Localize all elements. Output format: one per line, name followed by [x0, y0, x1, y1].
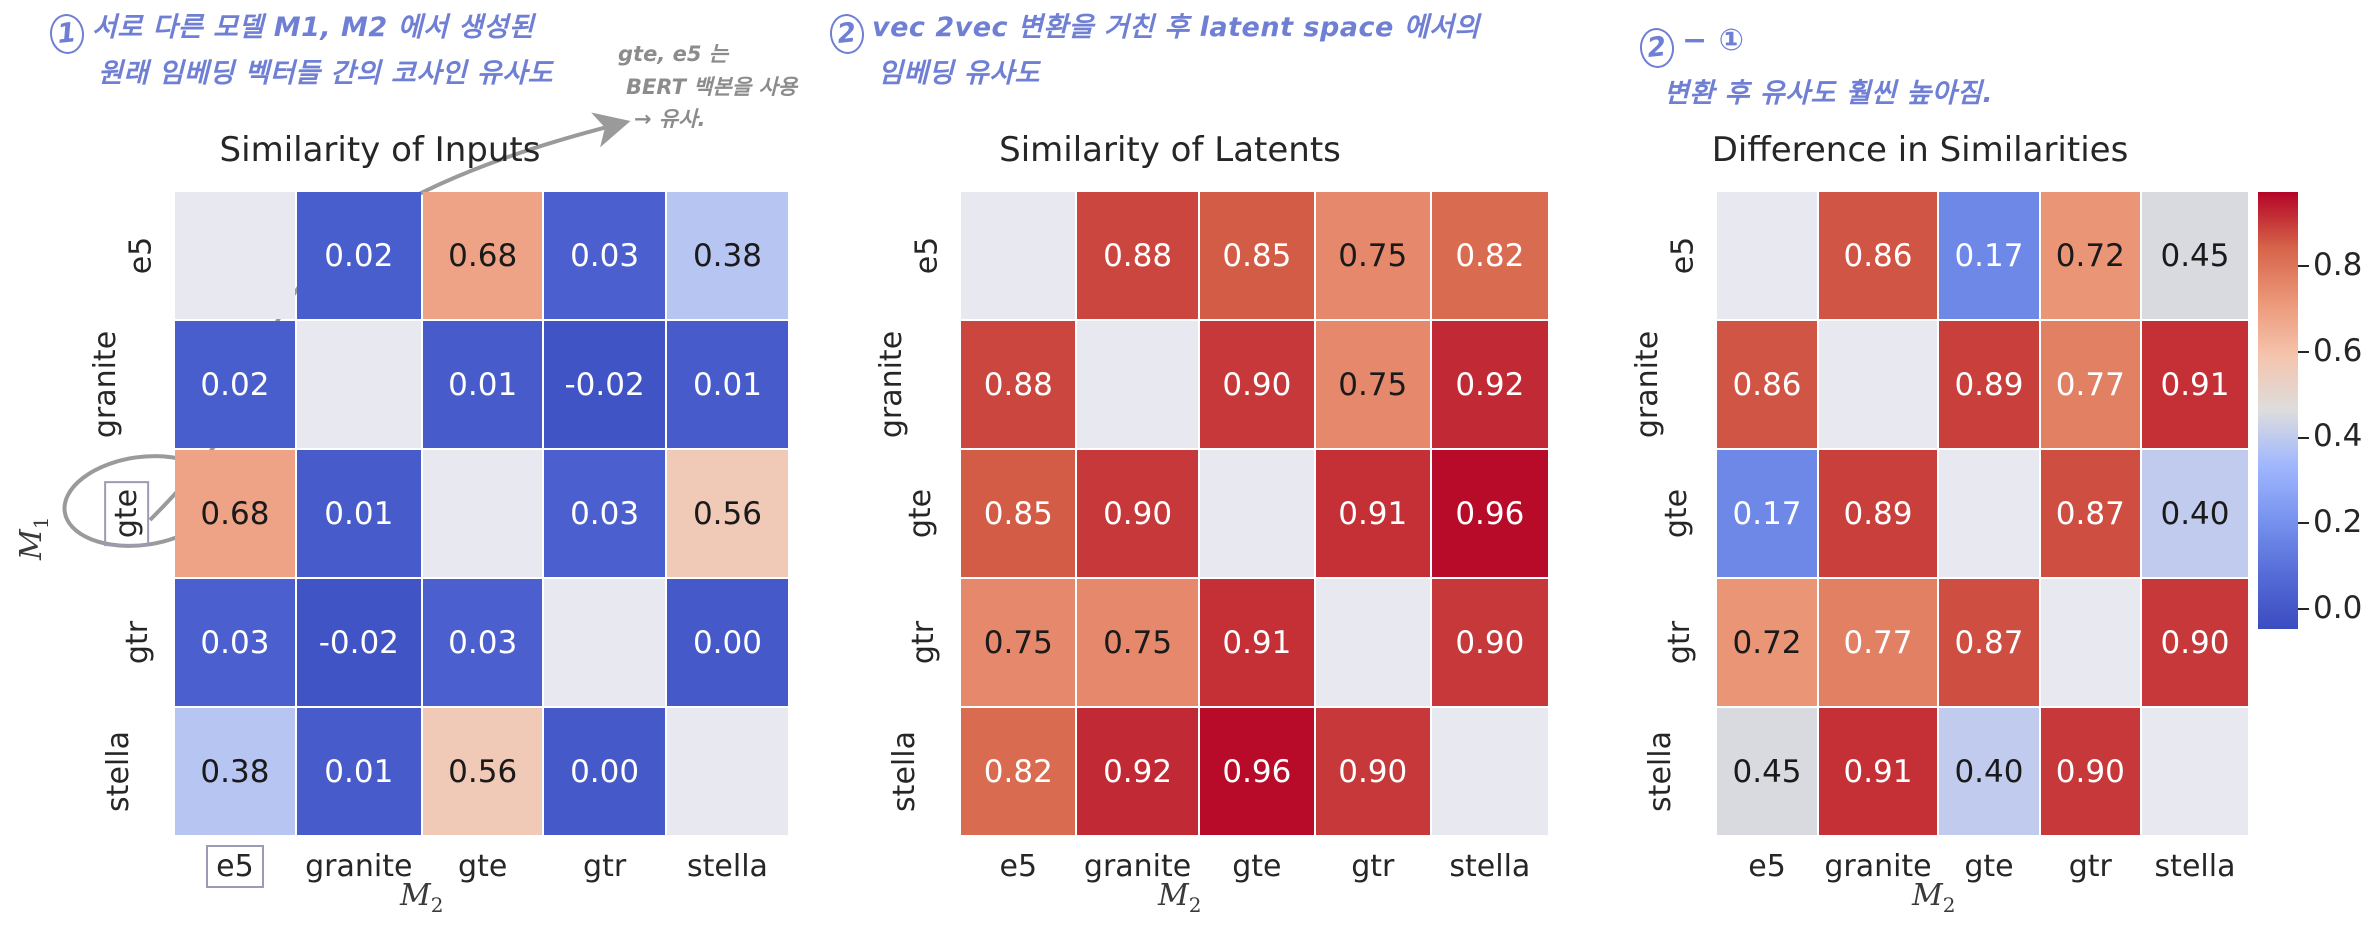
heatmap-cell: 0.38 — [175, 708, 294, 835]
heatmap-cell: 0.68 — [423, 192, 542, 319]
heatmap-cell: 0.40 — [2142, 450, 2248, 577]
heatmap-cell: 0.96 — [1200, 708, 1314, 835]
y-tick-label-granite: granite — [52, 321, 173, 448]
heatmap-cell: 0.92 — [1077, 708, 1198, 835]
heatmap-panel-difference: Difference in Similarities e50.860.170.7… — [1550, 0, 2250, 927]
panel-2-grid: e50.880.850.750.82granite0.880.900.750.9… — [836, 190, 1550, 887]
x-tick-label-e5: e5 — [961, 837, 1075, 885]
x-tick-label-gtr: gtr — [544, 837, 665, 885]
heatmap-cell: 0.01 — [297, 708, 422, 835]
panel-3-x-axis-label: M2 — [1912, 878, 1955, 917]
heatmap-cell: 0.86 — [1717, 321, 1816, 448]
heatmap-cell: 0.91 — [1819, 708, 1938, 835]
heatmap-cell: 0.75 — [1316, 321, 1430, 448]
heatmap-cell: 0.56 — [423, 708, 542, 835]
x-tick-label-gtr: gtr — [2041, 837, 2140, 885]
figure-root: 1서로 다른 모델 M1, M2 에서 생성된 원래 임베딩 벡터들 간의 코사… — [0, 0, 2373, 927]
colorbar-tick-label: 0.6 — [2298, 333, 2362, 369]
heatmap-cell — [961, 192, 1075, 319]
heatmap-cell: 0.88 — [961, 321, 1075, 448]
heatmap-cell: 0.00 — [544, 708, 665, 835]
y-tick-label-gte: gte — [52, 450, 173, 577]
heatmap-cell: 0.03 — [544, 192, 665, 319]
heatmap-cell: 0.01 — [423, 321, 542, 448]
y-tick-label-e5: e5 — [1594, 192, 1715, 319]
colorbar-tick-mark — [2298, 351, 2309, 353]
heatmap-cell: 0.91 — [1200, 579, 1314, 706]
y-tick-label-gtr: gtr — [52, 579, 173, 706]
heatmap-cell: 0.82 — [1432, 192, 1548, 319]
heatmap-cell: 0.38 — [667, 192, 788, 319]
heatmap-row: gtr0.03-0.020.030.00 — [52, 579, 788, 706]
colorbar-tick-label: 0.4 — [2298, 418, 2362, 454]
heatmap-table: e50.860.170.720.45granite0.860.890.770.9… — [1592, 190, 2250, 887]
heatmap-cell — [2142, 708, 2248, 835]
heatmap-row: stella0.380.010.560.00 — [52, 708, 788, 835]
heatmap-row: e50.020.680.030.38 — [52, 192, 788, 319]
heatmap-cell — [1939, 450, 2038, 577]
heatmap-cell: 0.90 — [1077, 450, 1198, 577]
colorbar-tick-mark — [2298, 265, 2309, 267]
y-tick-label-granite: granite — [838, 321, 959, 448]
heatmap-cell: 0.56 — [667, 450, 788, 577]
colorbar-tick-label: 0.0 — [2298, 590, 2362, 626]
heatmap-row: gte0.850.900.910.96 — [838, 450, 1548, 577]
heatmap-cell: 0.92 — [1432, 321, 1548, 448]
heatmap-cell: 0.91 — [2142, 321, 2248, 448]
heatmap-cell — [1717, 192, 1816, 319]
panel-1-y-axis-label: M1 — [14, 517, 53, 560]
heatmap-cell — [1077, 321, 1198, 448]
heatmap-row: stella0.450.910.400.90 — [1594, 708, 2248, 835]
heatmap-cell: 0.90 — [1200, 321, 1314, 448]
colorbar-tick-mark — [2298, 437, 2309, 439]
heatmap-cell — [423, 450, 542, 577]
heatmap-cell: 0.01 — [297, 450, 422, 577]
heatmap-cell: 0.02 — [297, 192, 422, 319]
heatmap-cell: 0.02 — [175, 321, 294, 448]
panel-1-x-axis-label: M2 — [400, 878, 443, 917]
x-tick-label-stella: stella — [1432, 837, 1548, 885]
heatmap-cell: 0.82 — [961, 708, 1075, 835]
y-tick-label-e5: e5 — [838, 192, 959, 319]
x-tick-label-stella: stella — [2142, 837, 2248, 885]
panel-3-title: Difference in Similarities — [1570, 130, 2270, 170]
heatmap-cell: 0.68 — [175, 450, 294, 577]
heatmap-cell: 0.86 — [1819, 192, 1938, 319]
heatmap-row: granite0.860.890.770.91 — [1594, 321, 2248, 448]
heatmap-cell — [1316, 579, 1430, 706]
heatmap-cell: 0.87 — [2041, 450, 2140, 577]
heatmap-cell: 0.75 — [1316, 192, 1430, 319]
heatmap-row: stella0.820.920.960.90 — [838, 708, 1548, 835]
heatmap-table: e50.880.850.750.82granite0.880.900.750.9… — [836, 190, 1550, 887]
heatmap-cell — [667, 708, 788, 835]
heatmap-cell: 0.72 — [2041, 192, 2140, 319]
heatmap-cell: 0.89 — [1939, 321, 2038, 448]
y-tick-label-stella: stella — [52, 708, 173, 835]
heatmap-cell: 0.45 — [1717, 708, 1816, 835]
heatmap-panel-latents: Similarity of Latents e50.880.850.750.82… — [790, 0, 1550, 927]
heatmap-cell: 0.75 — [1077, 579, 1198, 706]
heatmap-cell: 0.89 — [1819, 450, 1938, 577]
heatmap-cell: 0.77 — [2041, 321, 2140, 448]
heatmap-cell — [1432, 708, 1548, 835]
heatmap-row: gtr0.750.750.910.90 — [838, 579, 1548, 706]
heatmap-cell: 0.03 — [423, 579, 542, 706]
y-tick-label-e5: e5 — [52, 192, 173, 319]
heatmap-cell: 0.85 — [961, 450, 1075, 577]
y-tick-label-gte: gte — [1594, 450, 1715, 577]
heatmap-cell: 0.77 — [1819, 579, 1938, 706]
heatmap-cell: 0.03 — [544, 450, 665, 577]
heatmap-cell: 0.85 — [1200, 192, 1314, 319]
y-tick-label-granite: granite — [1594, 321, 1715, 448]
heatmap-cell: 0.00 — [667, 579, 788, 706]
heatmap-cell — [544, 579, 665, 706]
heatmap-cell — [2041, 579, 2140, 706]
heatmap-cell: 0.17 — [1717, 450, 1816, 577]
colorbar-tick-label: 0.2 — [2298, 504, 2362, 540]
heatmap-row: e50.880.850.750.82 — [838, 192, 1548, 319]
heatmap-cell: 0.90 — [2041, 708, 2140, 835]
heatmap-cell: -0.02 — [297, 579, 422, 706]
heatmap-row: gte0.680.010.030.56 — [52, 450, 788, 577]
heatmap-cell: 0.03 — [175, 579, 294, 706]
heatmap-row: gtr0.720.770.870.90 — [1594, 579, 2248, 706]
x-tick-spacer — [838, 837, 959, 885]
heatmap-row: e50.860.170.720.45 — [1594, 192, 2248, 319]
heatmap-cell — [175, 192, 294, 319]
heatmap-cell: 0.01 — [667, 321, 788, 448]
y-tick-label-stella: stella — [1594, 708, 1715, 835]
heatmap-table: e50.020.680.030.38granite0.020.01-0.020.… — [50, 190, 790, 887]
heatmap-cell: -0.02 — [544, 321, 665, 448]
heatmap-cell: 0.45 — [2142, 192, 2248, 319]
x-tick-label-gte: gte — [1200, 837, 1314, 885]
panel-2-title: Similarity of Latents — [790, 130, 1550, 170]
y-tick-label-stella: stella — [838, 708, 959, 835]
x-tick-label-stella: stella — [667, 837, 788, 885]
panel-1-title: Similarity of Inputs — [0, 130, 775, 170]
heatmap-row: gte0.170.890.870.40 — [1594, 450, 2248, 577]
heatmap-cell: 0.87 — [1939, 579, 2038, 706]
y-tick-label-gtr: gtr — [1594, 579, 1715, 706]
heatmap-cell — [297, 321, 422, 448]
heatmap-cell: 0.96 — [1432, 450, 1548, 577]
heatmap-cell: 0.17 — [1939, 192, 2038, 319]
heatmap-cell: 0.90 — [1432, 579, 1548, 706]
x-tick-label-e5: e5 — [175, 837, 294, 885]
heatmap-cell: 0.91 — [1316, 450, 1430, 577]
heatmap-cell: 0.72 — [1717, 579, 1816, 706]
colorbar-tick-mark — [2298, 608, 2309, 610]
heatmap-row: granite0.020.01-0.020.01 — [52, 321, 788, 448]
y-tick-label-gte: gte — [838, 450, 959, 577]
x-tick-label-e5: e5 — [1717, 837, 1816, 885]
colorbar-gradient — [2258, 192, 2298, 629]
heatmap-cell — [1200, 450, 1314, 577]
x-tick-spacer — [1594, 837, 1715, 885]
panel-3-grid: e50.860.170.720.45granite0.860.890.770.9… — [1592, 190, 2250, 887]
heatmap-cell: 0.88 — [1077, 192, 1198, 319]
colorbar-tick-mark — [2298, 522, 2309, 524]
colorbar: 0.80.60.40.20.0 — [2258, 192, 2298, 629]
colorbar-tick-label: 0.8 — [2298, 247, 2362, 283]
heatmap-cell: 0.75 — [961, 579, 1075, 706]
heatmap-cell — [1819, 321, 1938, 448]
y-tick-label-gtr: gtr — [838, 579, 959, 706]
heatmap-cell: 0.40 — [1939, 708, 2038, 835]
heatmap-cell: 0.90 — [1316, 708, 1430, 835]
heatmap-row: granite0.880.900.750.92 — [838, 321, 1548, 448]
panel-1-grid: e50.020.680.030.38granite0.020.01-0.020.… — [50, 190, 790, 887]
panel-2-x-axis-label: M2 — [1158, 878, 1201, 917]
x-tick-label-gtr: gtr — [1316, 837, 1430, 885]
heatmap-panel-inputs: Similarity of Inputs e50.020.680.030.38g… — [0, 0, 790, 927]
heatmap-cell: 0.90 — [2142, 579, 2248, 706]
x-tick-spacer — [52, 837, 173, 885]
